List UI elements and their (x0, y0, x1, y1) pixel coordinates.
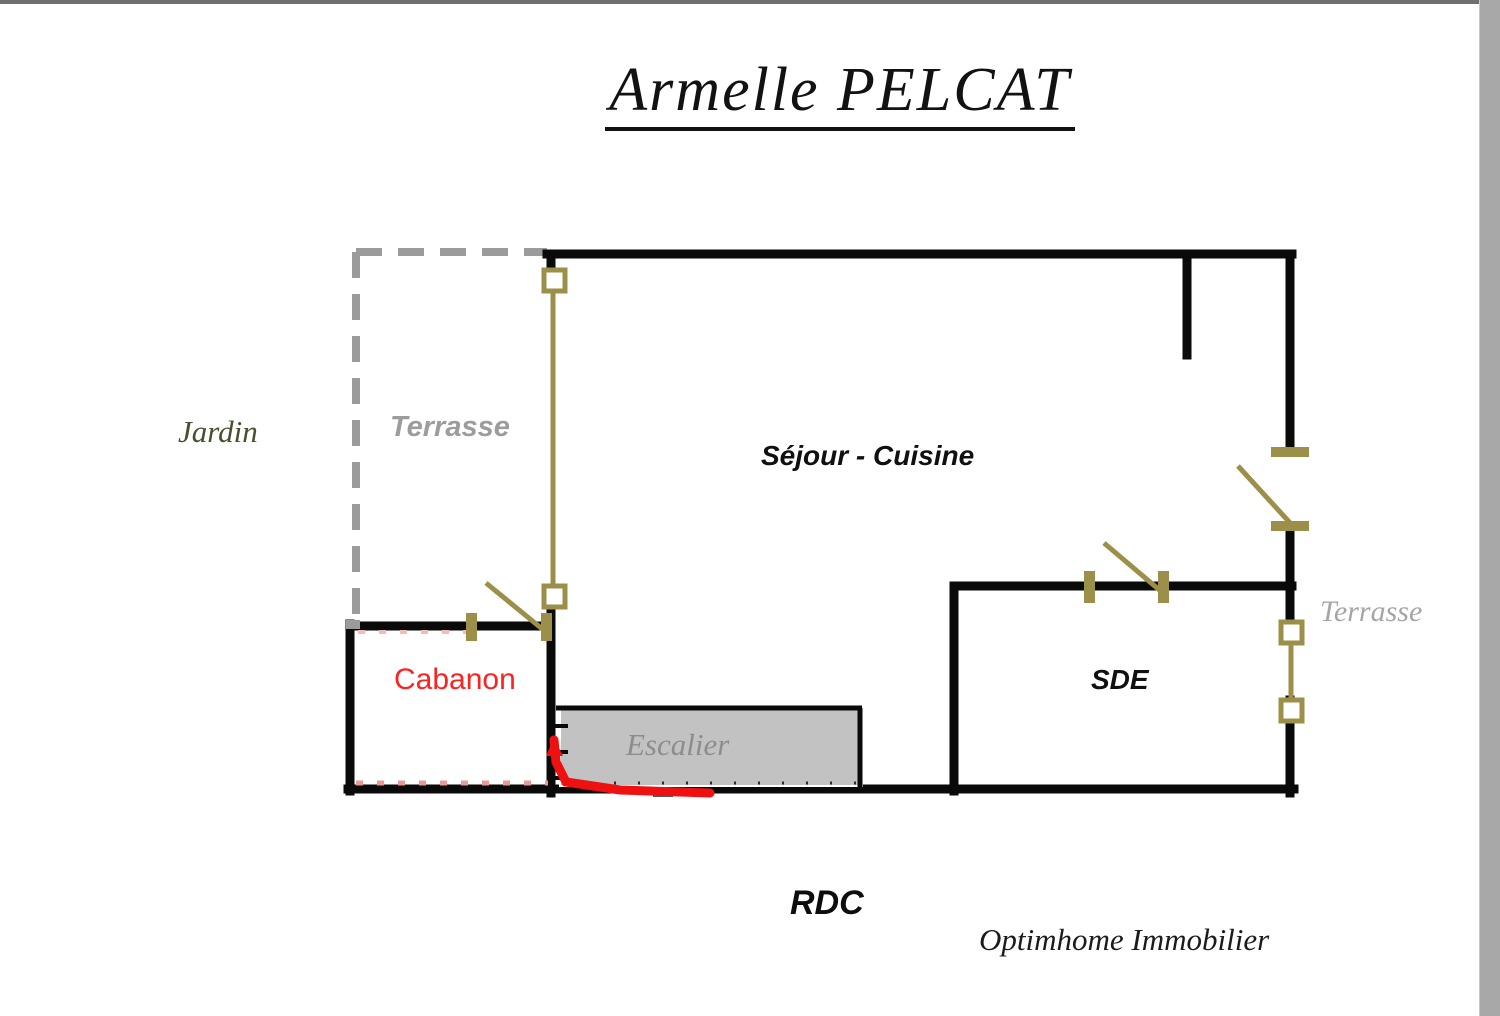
cabanon-floor-dashes (356, 632, 548, 783)
room-label-terrasse-left: Terrasse (390, 411, 510, 444)
room-label-jardin: Jardin (178, 414, 258, 450)
room-label-escalier: Escalier (626, 727, 729, 763)
floor-level-label: RDC (790, 884, 864, 923)
floor-plan-drawing (0, 0, 1500, 1016)
door-cabanon-jamb-left (466, 613, 477, 641)
window-left-bay-symbol-top (544, 270, 565, 291)
window-left-bay-symbol-bottom (544, 586, 565, 607)
terrasse-dashed-end-cap (346, 620, 360, 629)
door-right-upper-jamb-top (1271, 447, 1309, 457)
room-label-terrasse-right: Terrasse (1320, 595, 1422, 629)
window-right-bay-symbol-top (1281, 622, 1302, 643)
floorplan-page: Armelle PELCAT (0, 0, 1500, 1016)
openings-doors (466, 447, 1309, 641)
room-label-sde: SDE (1091, 664, 1149, 696)
room-label-cabanon: Cabanon (394, 663, 516, 697)
window-right-bay-symbol-bottom (1281, 700, 1302, 721)
room-label-sejour-cuisine: Séjour - Cuisine (761, 440, 974, 472)
agency-name: Optimhome Immobilier (979, 922, 1269, 958)
door-right-upper-swing (1238, 466, 1292, 525)
door-sde-jamb-left (1084, 571, 1095, 603)
